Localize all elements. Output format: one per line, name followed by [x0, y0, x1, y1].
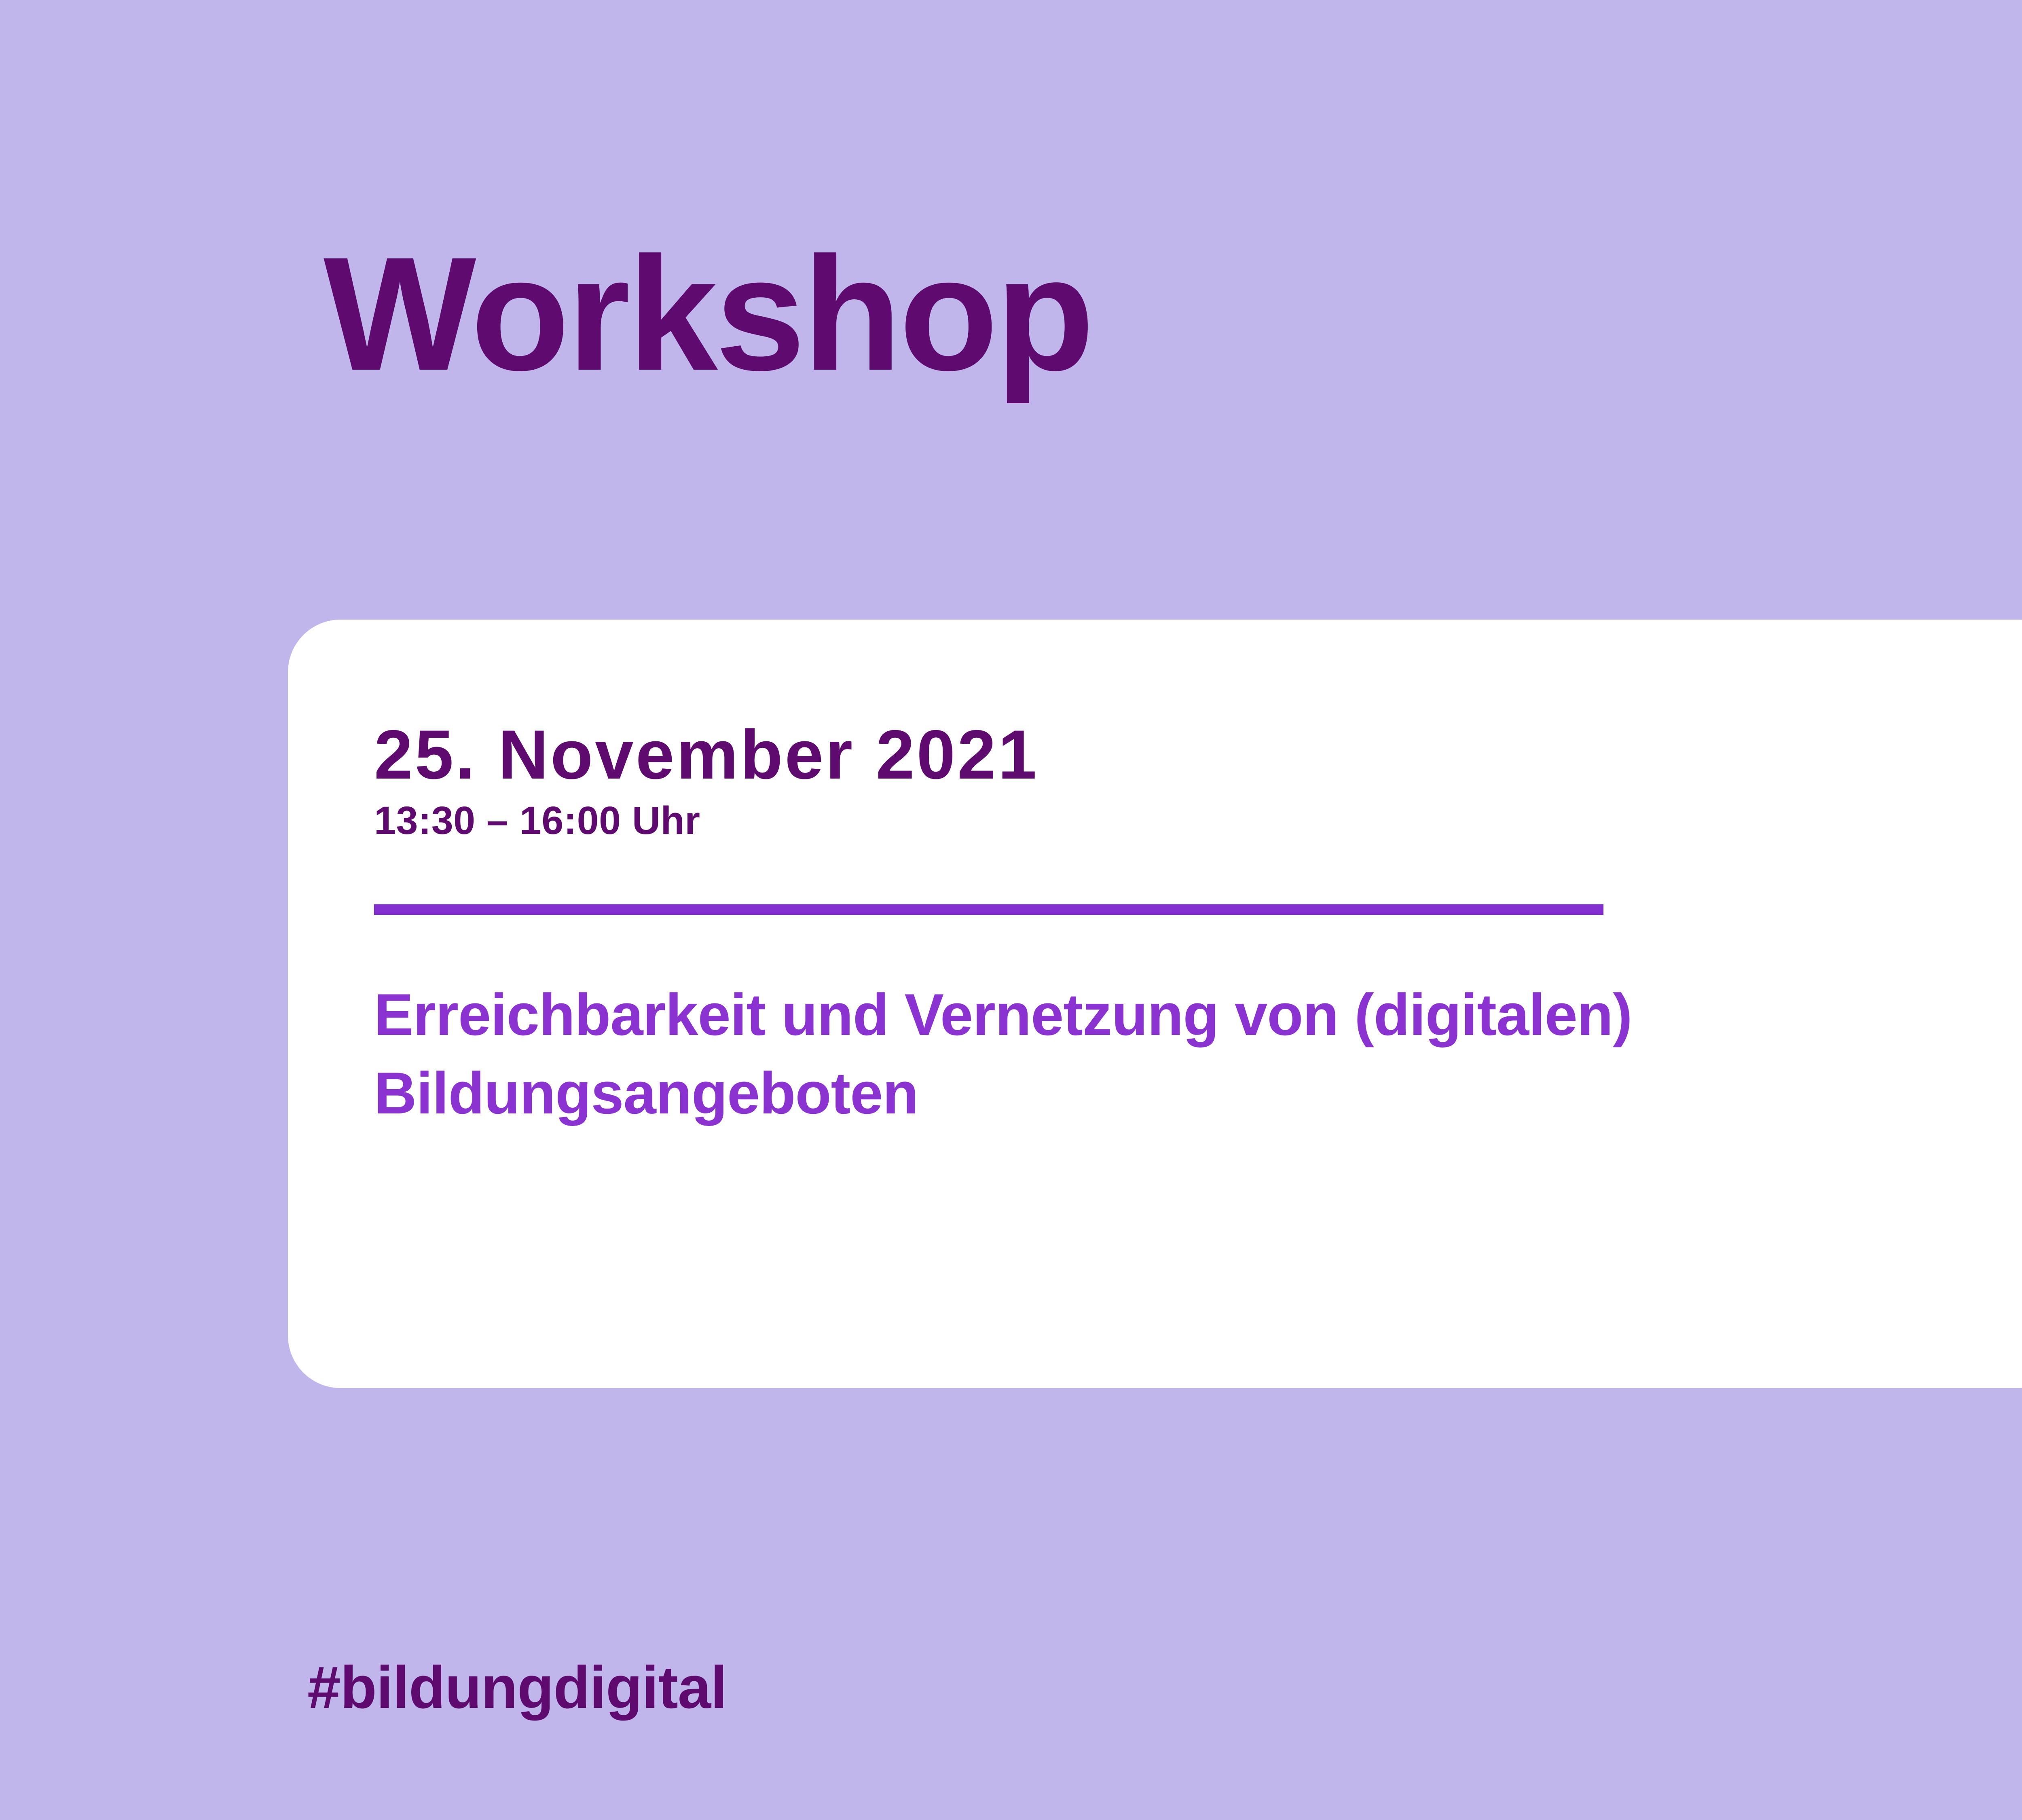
event-date: 25. November 2021 [374, 719, 1999, 791]
event-subject: Erreichbarkeit und Vernetzung von (digit… [374, 976, 1999, 1132]
event-time: 13:30 – 16:00 Uhr [374, 800, 1999, 841]
event-info-card: 25. November 2021 13:30 – 16:00 Uhr Erre… [288, 620, 2022, 1388]
event-info-card-content: 25. November 2021 13:30 – 16:00 Uhr Erre… [374, 719, 1999, 1132]
page-title: Workshop [324, 233, 1092, 395]
poster-canvas: Workshop 25. November 2021 13:30 – 16:00… [0, 0, 2022, 1820]
card-divider [374, 904, 1603, 915]
hashtag-label: #bildungdigital [307, 1653, 727, 1722]
